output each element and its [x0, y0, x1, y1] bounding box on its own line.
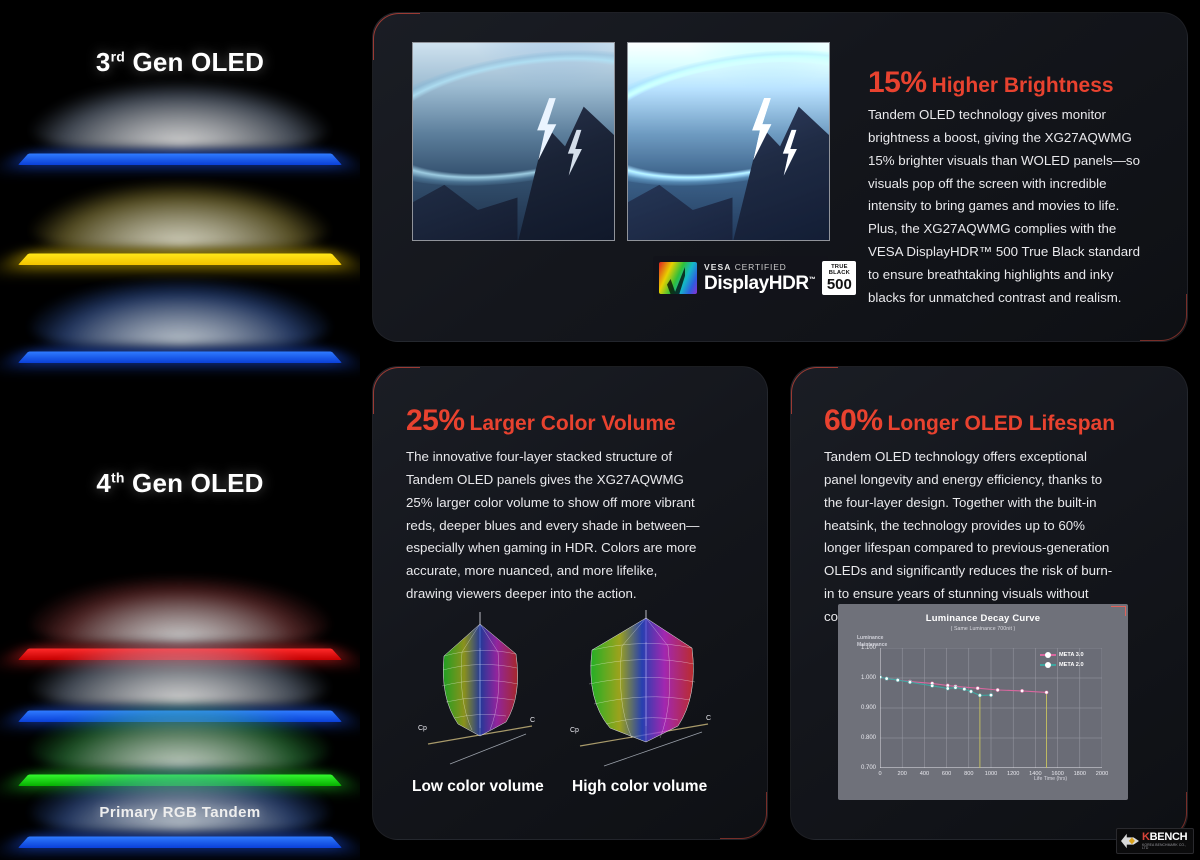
gamut-axis-c-label: C	[530, 717, 535, 724]
chart-x-axis-label: Life Time (hrs)	[1034, 776, 1067, 782]
chart-y-tick: 0.700	[861, 765, 876, 771]
chart-x-tick: 200	[898, 771, 907, 777]
gen4-layer-stack	[0, 520, 360, 820]
low-color-volume-diagram: Cp C	[410, 608, 550, 768]
brightness-percentage: 15%	[868, 66, 927, 99]
certified-word: CERTIFIED	[735, 262, 787, 272]
displayhdr-wordmark: DisplayHDR™	[704, 274, 815, 293]
kbench-name-k: K	[1142, 831, 1150, 843]
brightness-headline-text: Higher Brightness	[932, 74, 1114, 97]
brightness-body-text: Tandem OLED technology gives monitor bri…	[868, 104, 1146, 310]
chart-x-tick: 1800	[1074, 771, 1086, 777]
chart-y-tick: 0.800	[861, 735, 876, 741]
kbench-wordmark: KBENCH KOREA BENCHMARK CO., LTD	[1142, 832, 1189, 851]
lifespan-percentage: 60%	[824, 404, 883, 437]
color-volume-body-text: The innovative four-layer stacked struct…	[406, 446, 704, 606]
gen4-title-rest: Gen OLED	[132, 468, 264, 498]
chart-title: Luminance Decay Curve	[838, 613, 1128, 624]
space-scene	[628, 43, 829, 240]
layer-slab	[18, 352, 342, 363]
low-color-volume-caption: Low color volume	[412, 778, 544, 796]
chart-x-tick: 2000	[1096, 771, 1108, 777]
color-gamut-illustrations: Cp C Cp	[398, 608, 728, 778]
emission-glow	[31, 578, 329, 644]
high-color-volume-diagram: Cp C	[566, 608, 726, 768]
gen3-layer-yellow-middle	[18, 225, 342, 271]
woled-sample-image	[412, 42, 615, 241]
color-volume-headline-text: Larger Color Volume	[470, 412, 676, 435]
feature-cards-area: VESA CERTIFIED DisplayHDR™ TRUE BLACK 50…	[360, 0, 1200, 860]
kbench-subtitle: KOREA BENCHMARK CO., LTD	[1142, 844, 1189, 851]
space-scene	[413, 43, 614, 240]
true-black-500-badge: TRUE BLACK 500	[822, 261, 856, 295]
gamut-axis-cp-label: Cp	[570, 727, 579, 734]
emission-glow	[31, 281, 329, 347]
lifespan-body-text: Tandem OLED technology offers exceptiona…	[824, 446, 1114, 629]
gen4-title-ordinal: th	[111, 469, 125, 485]
kbench-watermark: KBENCH KOREA BENCHMARK CO., LTD	[1116, 828, 1194, 854]
kbench-name-rest: BENCH	[1150, 831, 1188, 843]
chart-y-tick: 1.100	[861, 645, 876, 651]
lifespan-headline-text: Longer OLED Lifespan	[888, 412, 1116, 435]
gen3-title-rest: Gen OLED	[132, 47, 264, 77]
lifespan-headline: 60%Longer OLED Lifespan	[824, 404, 1115, 438]
legend-swatch-meta-2	[1040, 664, 1056, 666]
gen3-layer-blue-top	[18, 125, 342, 171]
gen3-title-number: 3	[96, 47, 111, 77]
vesa-rainbow-check-icon	[659, 262, 697, 294]
legend-swatch-meta-3	[1040, 654, 1056, 656]
layer-slab	[18, 254, 342, 265]
gamut-solid	[443, 624, 517, 736]
layer-slab	[18, 154, 342, 165]
vesa-certified-line: VESA CERTIFIED	[704, 263, 815, 272]
primary-rgb-tandem-label: Primary RGB Tandem	[0, 804, 360, 821]
gen3-layer-stack	[0, 125, 360, 385]
gen4-title-number: 4	[96, 468, 111, 498]
vesa-displayhdr-logo: VESA CERTIFIED DisplayHDR™ TRUE BLACK 50…	[653, 256, 828, 300]
gen3-title-ordinal: rd	[111, 48, 125, 64]
chart-x-tick: 600	[942, 771, 951, 777]
gen4-title: 4th Gen OLED	[0, 468, 360, 499]
high-color-volume-caption: High color volume	[572, 778, 707, 796]
kbench-logo-icon	[1121, 832, 1139, 850]
brightness-headline: 15%Higher Brightness	[868, 66, 1114, 100]
displayhdr-text: DisplayHDR	[704, 273, 809, 294]
chart-x-tick: 0	[878, 771, 881, 777]
brightness-comparison-images	[412, 42, 830, 252]
layer-slab	[18, 837, 342, 848]
legend-label-meta-2: META 2.0	[1059, 662, 1084, 668]
gamut-axis-c-label: C	[706, 715, 711, 722]
kbench-name: KBENCH	[1142, 832, 1189, 843]
legend-item-meta-3: META 3.0	[1040, 652, 1084, 658]
oled-structure-panel: 3rd Gen OLED 4th Gen OLED Primary RGB Ta…	[0, 0, 360, 860]
chart-y-tick: 1.000	[861, 675, 876, 681]
chart-x-tick: 400	[920, 771, 929, 777]
emission-glow	[31, 83, 329, 149]
gen3-layer-blue-bottom	[18, 323, 342, 369]
tandem-oled-sample-image	[627, 42, 830, 241]
chart-x-tick: 800	[964, 771, 973, 777]
chart-subtitle: ( Same Luminance 700nit )	[838, 626, 1128, 632]
gen3-title: 3rd Gen OLED	[0, 47, 360, 78]
chart-x-tick: 1200	[1007, 771, 1019, 777]
vesa-logo-text: VESA CERTIFIED DisplayHDR™	[704, 263, 815, 294]
luminance-decay-chart: Luminance Decay Curve ( Same Luminance 7…	[838, 604, 1128, 800]
legend-item-meta-2: META 2.0	[1040, 662, 1084, 668]
badge-number: 500	[827, 277, 852, 292]
emission-glow	[31, 183, 329, 249]
vesa-word: VESA	[704, 262, 731, 272]
chart-x-tick: 1000	[985, 771, 997, 777]
trademark-symbol: ™	[809, 277, 816, 284]
color-volume-headline: 25%Larger Color Volume	[406, 404, 676, 438]
legend-label-meta-3: META 3.0	[1059, 652, 1084, 658]
color-volume-percentage: 25%	[406, 404, 465, 437]
gamut-axis-cp-label: Cp	[418, 725, 427, 732]
chart-y-tick: 0.900	[861, 705, 876, 711]
